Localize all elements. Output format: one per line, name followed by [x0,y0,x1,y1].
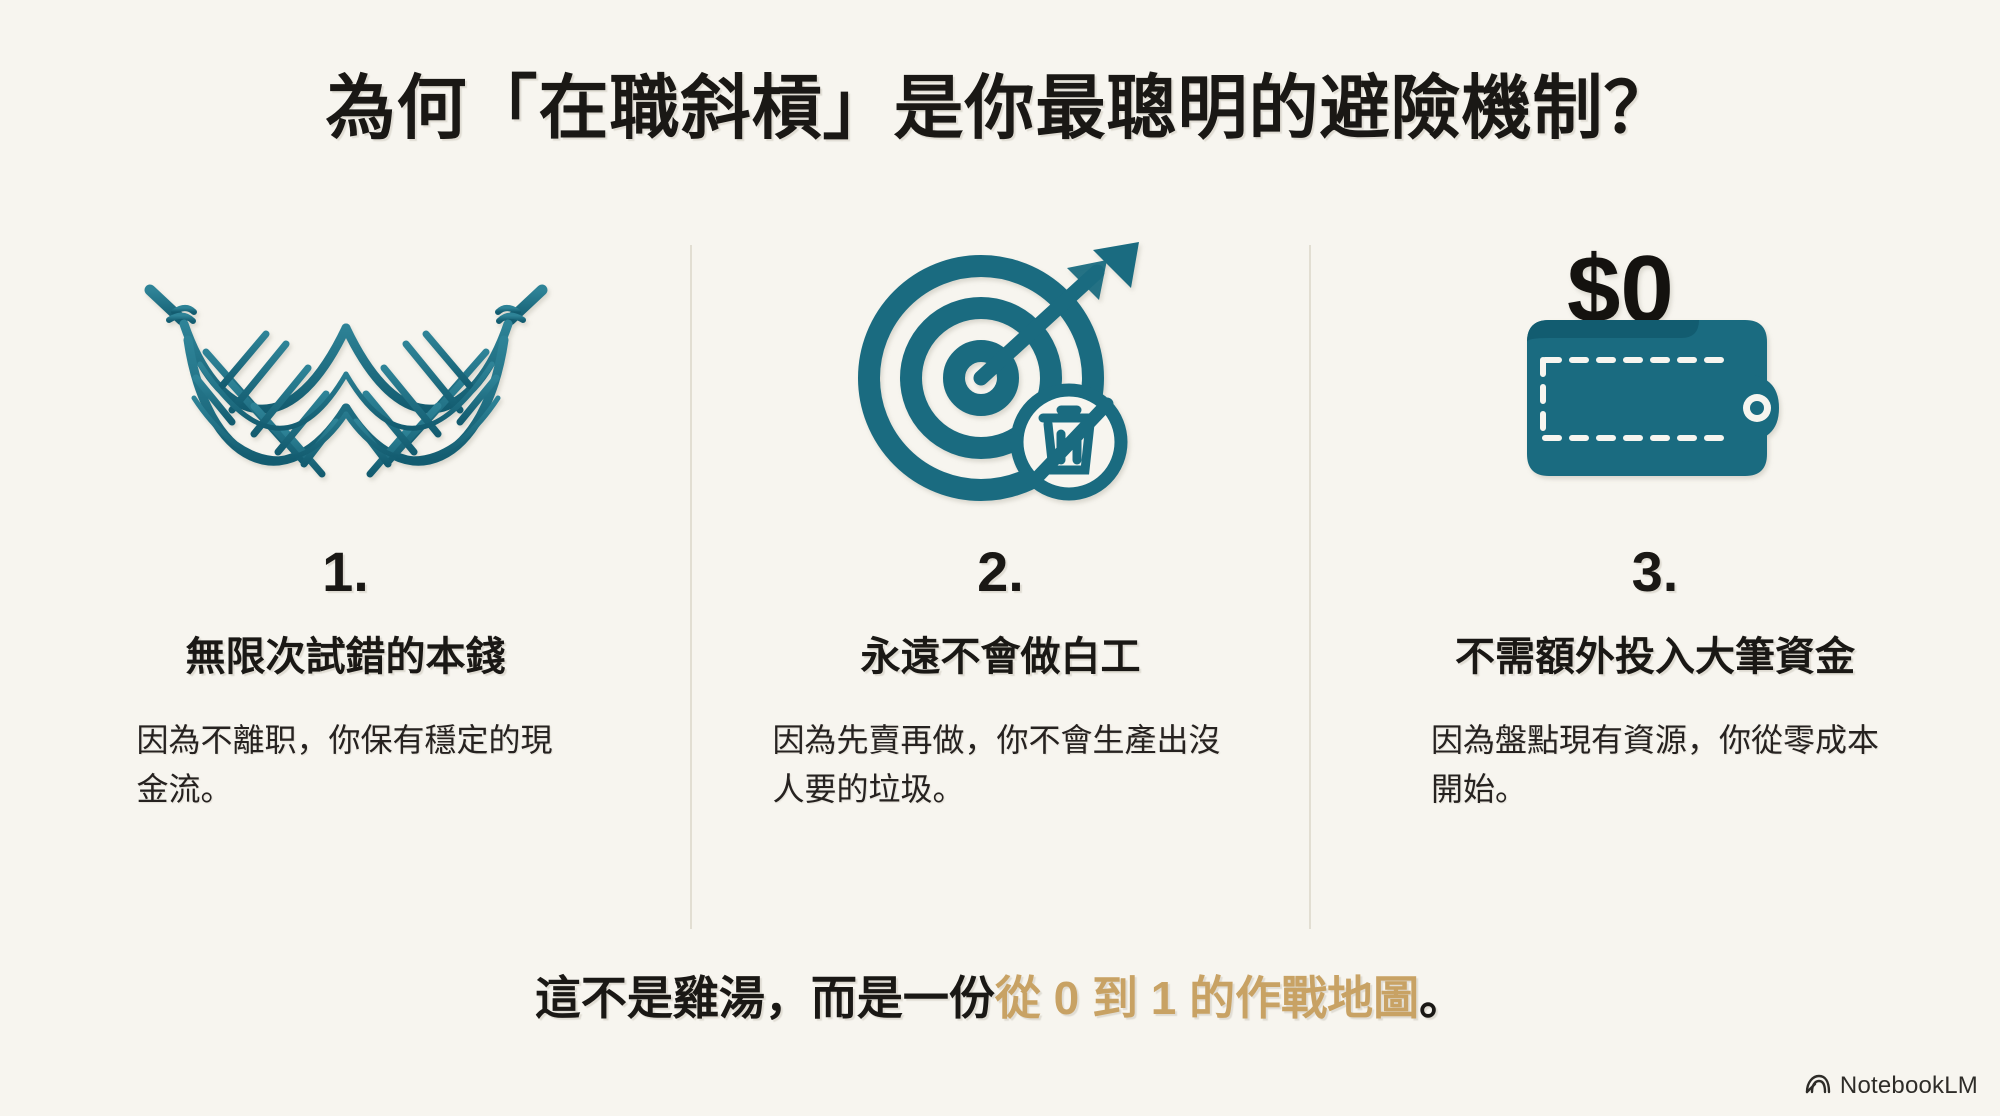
benefit-heading: 不需額外投入大筆資金 [1455,624,1855,682]
benefit-body: 因為盤點現有資源，你從零成本開始。 [1415,716,1895,813]
target-arrow-no-waste-icon [691,236,1310,520]
wallet-zero-cost-icon: $0 [1310,236,2000,520]
page-title: 為何「在職斜槓」是你最聰明的避險機制？ [0,52,2000,153]
notebooklm-logo-icon [1805,1073,1831,1100]
benefit-body: 因為先賣再做，你不會生產出沒人要的垃圾。 [761,716,1241,813]
notebooklm-watermark: NotebookLM [1805,1072,1978,1100]
columns-container: 1. 無限次試錯的本錢 因為不離职，你保有穩定的現金流。 [0,236,2000,936]
benefit-column-1: 1. 無限次試錯的本錢 因為不離职，你保有穩定的現金流。 [0,236,691,936]
benefit-heading: 無限次試錯的本錢 [186,624,506,682]
step-number: 3. [1632,544,1679,600]
benefit-heading: 永遠不會做白工 [861,624,1141,682]
benefit-body: 因為不離职，你保有穩定的現金流。 [111,716,581,813]
benefit-column-3: $0 3. 不需額外投入 [1310,236,2000,936]
step-number: 1. [322,544,369,600]
footer-tagline: 這不是雞湯，而是一份從 0 到 1 的作戰地圖。 [0,962,2000,1028]
footer-lead: 這不是雞湯，而是一份 [535,972,995,1024]
step-number: 2. [977,544,1024,600]
footer-accent: 從 0 到 1 的作戰地圖 [995,972,1419,1024]
safety-net-icon [0,236,691,520]
infographic-slide: 為何「在職斜槓」是你最聰明的避險機制？ [0,0,2000,1116]
benefit-column-2: 2. 永遠不會做白工 因為先賣再做，你不會生產出沒人要的垃圾。 [691,236,1310,936]
notebooklm-label: NotebookLM [1840,1072,1978,1100]
footer-tail: 。 [1419,972,1465,1024]
